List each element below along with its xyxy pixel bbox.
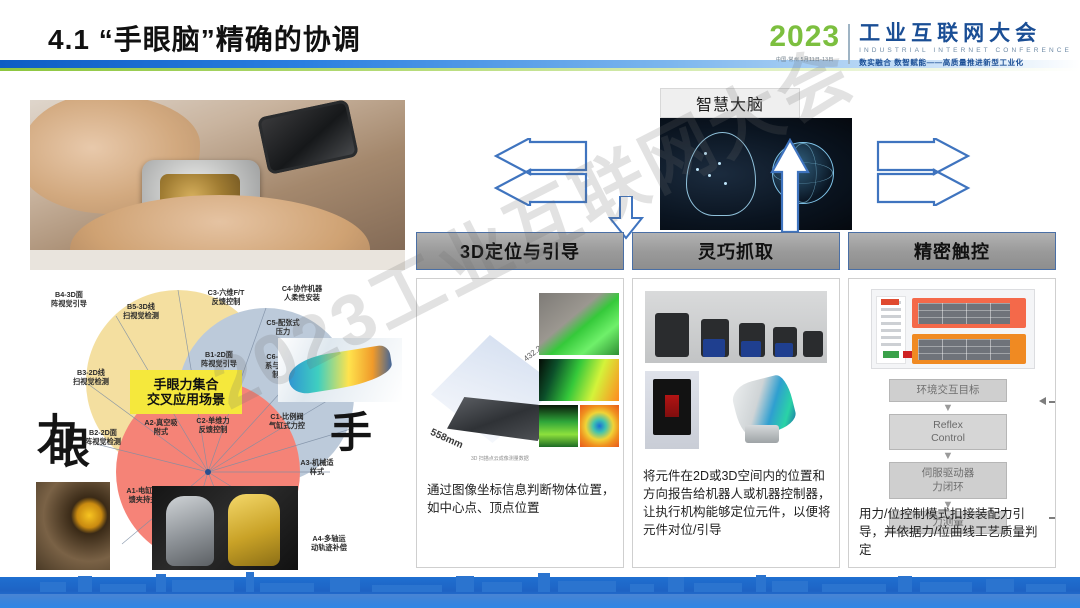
flow-node-environment-target: 环境交互目标 (889, 379, 1007, 402)
brain-head-outline (686, 132, 756, 216)
gripper-1 (655, 313, 689, 357)
pointcloud-image-1 (539, 293, 619, 355)
panel-touch-caption: 用力/位控制模式扣接装配力引导，并依据力/位曲线工艺质量判定 (859, 505, 1047, 559)
hmi-chart-grid (918, 339, 1010, 360)
conference-logo: 2023 中国·常州 5月11日-13日 工业互联网大会 INDUSTRIAL … (769, 22, 1072, 74)
pointcloud-image-3 (539, 405, 578, 447)
panel-touch: 精密触控 (848, 232, 1056, 568)
photo-table-surface (30, 250, 405, 270)
venn-segment-B3: B3-2D线 扫视觉检测 (60, 368, 122, 386)
venn-center-line-2: 交叉应用场景 (147, 392, 225, 407)
hmi-param-row (881, 336, 901, 339)
venn-segment-C1: C1-比例阀 气缸式力控 (256, 412, 318, 430)
venn-segment-C4: C4-协作机器 人柔性安装 (268, 284, 336, 302)
venn-center-label: 手眼力集合 交叉应用场景 (130, 370, 242, 414)
owl-eye-thumbnail (36, 482, 110, 570)
venn-segment-A2: A2-真空吸 附式 (134, 418, 188, 436)
logo-name-cn: 工业互联网大会 (859, 23, 1072, 45)
logo-year-block: 2023 中国·常州 5月11日-13日 (769, 22, 848, 63)
hmi-chart-grid (918, 303, 1010, 324)
panel-positioning-title[interactable]: 3D定位与引导 (416, 232, 624, 270)
robot-arm-base (745, 425, 779, 443)
hmi-param-row (881, 322, 901, 325)
venn-segment-B1: B1-2D面 阵视觉引导 (188, 350, 250, 368)
brain-node (696, 168, 699, 171)
flow-arrow-1: ▼ (889, 402, 1007, 414)
venn-segment-A3: A3-机械适 样式 (290, 458, 344, 476)
robot-hand-gold (228, 494, 280, 566)
scan-note: 3D 扫描点云成像测量数据 (471, 455, 529, 462)
robot-arm-image (707, 371, 817, 449)
arrow-grasping-to-brain (770, 138, 810, 234)
brain-node (704, 152, 707, 155)
force-sensor-image (645, 371, 699, 449)
hmi-param-row (881, 343, 901, 346)
venn-segment-B5: B5-3D线 扫视觉检测 (110, 302, 172, 320)
logo-text-block: 工业互联网大会 INDUSTRIAL INTERNET CONFERENCE 数… (859, 22, 1072, 68)
flow-feedback-arrowhead (1039, 397, 1046, 405)
hmi-param-row (881, 315, 901, 318)
city-skyline-graphic (0, 570, 1080, 592)
gripper-lineup-image (645, 291, 827, 363)
logo-year: 2023 (769, 22, 840, 52)
hmi-parameter-list (876, 296, 906, 364)
logo-divider (848, 24, 850, 64)
hmi-param-row (881, 329, 901, 332)
panel-grasping-body: 将元件在2D或3D空间内的位置和方向报告给机器人或机器控制器，让执行机构能够定位… (632, 278, 840, 568)
pointcloud-image-4 (580, 405, 619, 447)
logo-year-subtitle: 中国·常州 5月11日-13日 (769, 56, 840, 63)
venn-segment-B2: B2-2D面 阵视觉检测 (72, 428, 134, 446)
gripper-3-actuator (741, 341, 761, 357)
logo-slogan: 数实融合 数智赋能——高质量推进新型工业化 (859, 57, 1072, 68)
footer-band (0, 570, 1080, 608)
panel-positioning-body: 558mm 432.2mm 3D 扫描点云成像测量数据 通过图像坐标信息判断物体… (416, 278, 624, 568)
venn-segment-A4: A4-多轴运 动轨迹补偿 (298, 534, 360, 552)
brain-node (724, 182, 727, 185)
brain-node (708, 174, 711, 177)
footer-sheen (0, 594, 1080, 608)
hmi-tag (881, 299, 899, 305)
panel-positioning: 3D定位与引导 558mm 432.2mm 3D 扫描点云成像测量数据 通过图像… (416, 232, 624, 568)
hmi-start-button[interactable] (883, 351, 899, 358)
scan-dimension-label: 558mm (429, 427, 465, 451)
hmi-force-chart-2 (912, 334, 1026, 364)
venn-diagram-panel: 手眼力集合 交叉应用场景 力 手 眼 B4-3D面 阵视觉引导 B5-3D线 扫… (30, 276, 405, 574)
smart-brain-image (660, 118, 852, 230)
flow-node-reflex-control: Reflex Control (889, 414, 1007, 450)
venn-segment-B4: B4-3D面 阵视觉引导 (38, 290, 100, 308)
pointcloud-image-2 (539, 359, 619, 401)
gripper-4-actuator (775, 343, 793, 357)
flow-feedback-loop (1049, 401, 1056, 519)
force-sensor-body (653, 379, 691, 435)
flow-node-servo-force-loop: 伺服驱动器 力闭环 (889, 462, 1007, 498)
force-simulation-shape (286, 344, 394, 396)
venn-segment-C3: C3-六维F/T 反馈控制 (194, 288, 258, 306)
slide-root: 4.1 “手眼脑”精确的协调 2023 中国·常州 5月11日-13日 工业互联… (0, 0, 1080, 608)
robot-hand-silver (166, 496, 214, 566)
panel-touch-title[interactable]: 精密触控 (848, 232, 1056, 270)
arrow-brain-to-positioning (488, 138, 596, 206)
arrow-brain-to-touch (868, 138, 976, 206)
panel-positioning-caption: 通过图像坐标信息判断物体位置，如中心点、顶点位置 (427, 481, 615, 517)
force-curve-hmi-screenshot (871, 289, 1035, 369)
page-title: 4.1 “手眼脑”精确的协调 (48, 18, 361, 58)
logo-name-en: INDUSTRIAL INTERNET CONFERENCE (859, 47, 1072, 54)
robot-hands-thumbnail (152, 486, 298, 574)
venn-segment-C2: C2-单维力 反馈控制 (184, 416, 242, 434)
gripper-2-actuator (703, 339, 725, 357)
panel-grasping-title[interactable]: 灵巧抓取 (632, 232, 840, 270)
panel-grasping: 灵巧抓取 将元件在2D或3D空间内的位置和方向报告给机器人或机器控制器，让执行机… (632, 232, 840, 568)
gripper-5 (803, 331, 823, 357)
panel-touch-body: 环境交互目标 ▼ Reflex Control ▼ 伺服驱动器 力闭环 ▼ 力测… (848, 278, 1056, 568)
force-simulation-thumbnail (278, 338, 402, 402)
venn-segment-C5: C5-配张式 压力 (254, 318, 312, 336)
watchmaker-photo (30, 100, 405, 270)
brain-node (718, 162, 721, 165)
hmi-force-chart-1 (912, 298, 1026, 328)
hmi-param-row (881, 308, 901, 311)
venn-axis-hand: 手 (330, 412, 372, 454)
photo-loupe (257, 100, 359, 175)
smart-brain-label: 智慧大脑 (660, 88, 800, 118)
panel-grasping-caption: 将元件在2D或3D空间内的位置和方向报告给机器人或机器控制器，让执行机构能够定位… (643, 467, 831, 540)
venn-center-line-1: 手眼力集合 (153, 377, 218, 392)
flow-arrow-2: ▼ (889, 450, 1007, 462)
